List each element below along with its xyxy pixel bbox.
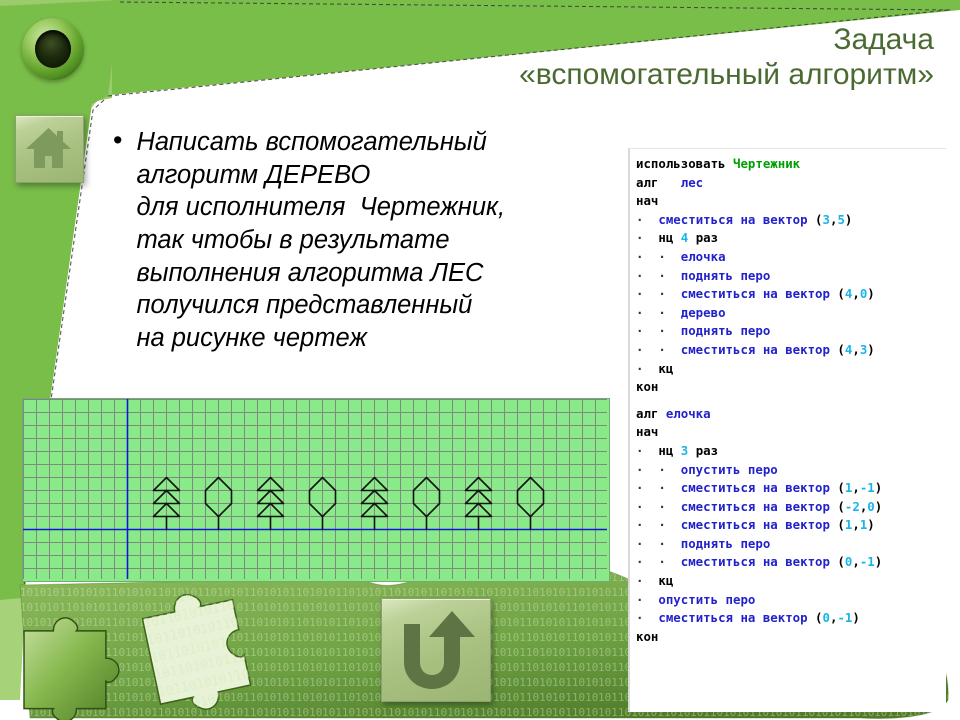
code-line: · · сместиться на вектор (-2,0) [636,498,946,517]
code-line: · нц 4 раз [636,229,946,248]
code-token: · · [636,286,681,301]
code-token: · [636,361,658,376]
task-bullet-line: выполнения алгоритма ЛЕС [136,257,505,290]
code-token: ) [867,517,874,532]
binder-hole-inner [35,30,71,68]
code-line: нач [636,192,946,211]
code-token: ) [845,212,852,227]
code-token: · [636,592,658,607]
code-token: · · [636,342,681,357]
code-token: ( [815,610,822,625]
task-bullet: • Написать вспомогательныйалгоритм ДЕРЕВ… [113,126,613,354]
code-token: ( [837,554,844,569]
code-line: · кц [636,572,946,591]
code-token: 5 [837,212,844,227]
code-line: · кц [636,360,946,379]
code-token: сместиться на вектор [681,554,838,569]
code-token: -1 [860,480,875,495]
code-line: кон [636,378,946,397]
code-token: -2 [845,499,860,514]
code-token: использовать [636,156,733,171]
task-bullet-line: получился представленный [136,289,505,322]
code-line: · сместиться на вектор (0,-1) [636,609,946,628]
code-token: ( [837,517,844,532]
code-line: алг елочка [636,405,946,424]
task-bullet-line: Написать вспомогательный [136,126,505,159]
home-icon [16,116,81,180]
code-line: · сместиться на вектор (3,5) [636,211,946,230]
title-line-2: «вспомогательный алгоритм» [314,57,934,92]
code-token: сместиться на вектор [658,610,815,625]
code-token: нц [658,230,680,245]
task-bullet-text: Написать вспомогательныйалгоритм ДЕРЕВОд… [136,126,505,354]
chertezhnik-grid [23,399,607,579]
code-token: раз [688,443,718,458]
code-token: ) [852,610,859,625]
code-token: , [852,480,859,495]
code-token: сместиться на вектор [681,342,838,357]
code-token: сместиться на вектор [658,212,815,227]
code-token: алг [636,175,681,190]
code-token: , [852,554,859,569]
puzzle-piece-left [24,618,119,720]
code-token: ) [867,342,874,357]
slide-title: Задача «вспомогательный алгоритм» [314,22,934,93]
back-button[interactable] [381,598,491,702]
bullet-marker: • [113,126,122,354]
code-line: использовать Чертежник [636,155,946,174]
code-token: ( [815,212,822,227]
code-token: · · [636,499,681,514]
code-token: ) [875,554,882,569]
code-token: · · [636,268,681,283]
code-token: -1 [837,610,852,625]
code-token: · · [636,462,681,477]
code-block-gap [636,397,946,405]
code-token: · [636,610,658,625]
code-token: · · [636,480,681,495]
code-token: · · [636,323,681,338]
code-token: поднять перо [681,268,771,283]
code-token: · [636,230,658,245]
code-token: · · [636,536,681,551]
code-token: поднять перо [681,323,771,338]
code-line: кон [636,628,946,647]
code-token: , [852,342,859,357]
code-token: кц [658,573,673,588]
code-line: · · сместиться на вектор (4,3) [636,341,946,360]
code-line: · · сместиться на вектор (4,0) [636,285,946,304]
code-token: ) [875,499,882,514]
code-token: ( [837,342,844,357]
code-line: · · сместиться на вектор (0,-1) [636,553,946,572]
code-token: опустить перо [658,592,755,607]
u-turn-arrow-icon [382,599,488,699]
code-line: алг лес [636,174,946,193]
code-token: ) [875,480,882,495]
code-token: алг [636,406,666,421]
task-bullet-line: для исполнителя Чертежник, [136,191,505,224]
code-token: -1 [860,554,875,569]
code-token: нач [636,424,658,439]
task-bullet-line: так чтобы в результате [136,224,505,257]
code-line: · опустить перо [636,591,946,610]
title-line-1: Задача [314,22,934,57]
code-line: нач [636,423,946,442]
home-button[interactable] [15,115,84,183]
code-token: ( [837,480,844,495]
code-token: елочка [681,249,726,264]
code-token: дерево [681,305,726,320]
code-token: · · [636,554,681,569]
code-token: · [636,212,658,227]
drawing-canvas [22,398,610,582]
code-token: · · [636,305,681,320]
binder-hole-icon [22,18,84,80]
kumir-code-panel: использовать Чертежникалг леснач· смести… [628,148,946,712]
code-token: лес [681,175,703,190]
task-bullet-line: алгоритм ДЕРЕВО [136,159,505,192]
code-token: · [636,443,658,458]
code-token: · · [636,249,681,264]
code-token: поднять перо [681,536,771,551]
code-token: кц [658,361,673,376]
code-token: нц [658,443,680,458]
code-token: , [852,286,859,301]
code-line: · · поднять перо [636,267,946,286]
code-token: опустить перо [681,462,778,477]
code-token: · [636,573,658,588]
code-token: сместиться на вектор [681,286,838,301]
code-line: · · сместиться на вектор (1,-1) [636,479,946,498]
code-token: кон [636,379,658,394]
code-token: ) [867,286,874,301]
code-token: раз [688,230,718,245]
code-token: 0 [867,499,874,514]
code-token: кон [636,629,658,644]
code-token: сместиться на вектор [681,517,838,532]
code-token: сместиться на вектор [681,480,838,495]
code-line: · · сместиться на вектор (1,1) [636,516,946,535]
code-line: · · опустить перо [636,461,946,480]
code-line: · · елочка [636,248,946,267]
slide-stage: 10110101 [0,0,960,720]
code-token: 3 [823,212,830,227]
code-line: · нц 3 раз [636,442,946,461]
task-bullet-line: на рисунке чертеж [136,322,505,355]
code-token: Чертежник [733,156,800,171]
code-token: ( [837,286,844,301]
code-token: сместиться на вектор [681,499,838,514]
code-token: · · [636,517,681,532]
code-line: · · дерево [636,304,946,323]
code-token: , [852,517,859,532]
code-line: · · поднять перо [636,535,946,554]
code-token: 0 [823,610,830,625]
code-token: ( [837,499,844,514]
code-line: · · поднять перо [636,322,946,341]
code-token: елочка [666,406,711,421]
code-token: нач [636,193,658,208]
